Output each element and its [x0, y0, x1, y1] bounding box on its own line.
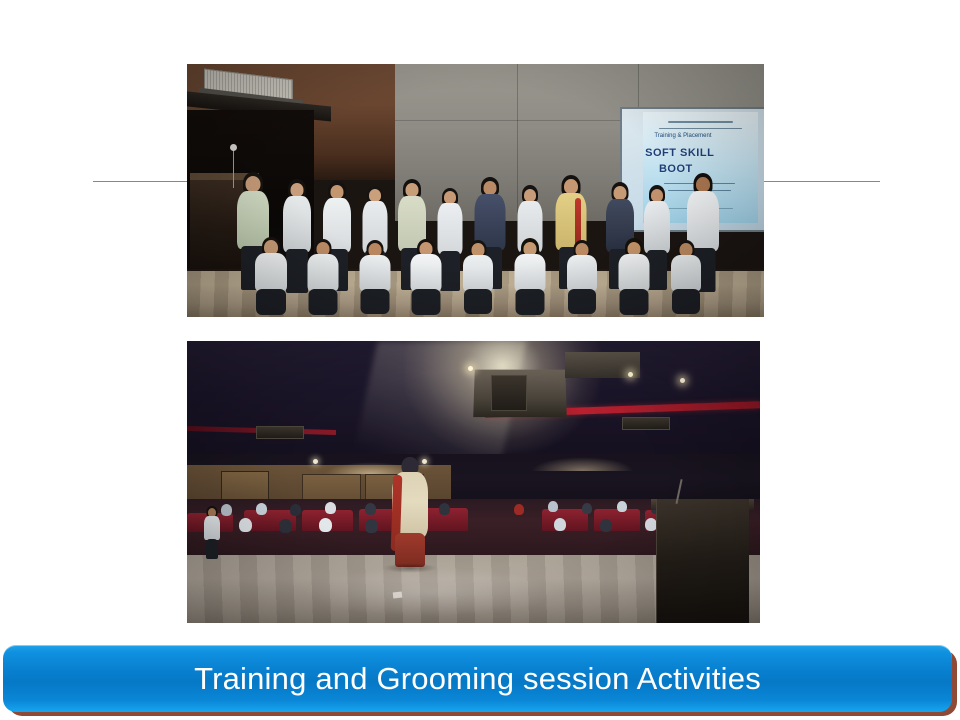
wall-speaker-left [256, 426, 304, 439]
audience-member [319, 518, 332, 532]
person [245, 237, 297, 289]
audience-member [365, 519, 378, 533]
ceiling-light [680, 378, 685, 383]
person [504, 238, 556, 289]
wall-speaker-right [622, 417, 670, 430]
caption-text: Training and Grooming session Activities [194, 661, 761, 697]
audience-member [439, 503, 450, 515]
poster-rule-2 [659, 128, 742, 129]
paper-on-floor [393, 591, 403, 598]
audience-member [617, 501, 627, 512]
poster-rule-1 [668, 121, 733, 123]
audience-member [239, 518, 252, 532]
group-photo[interactable]: Training & Placement SOFT SKILL BOOT [187, 64, 764, 317]
person [660, 239, 712, 290]
poster-subtitle: Training & Placement [654, 133, 711, 139]
slide-canvas: Training & Placement SOFT SKILL BOOT [0, 0, 960, 720]
standing-attendee [204, 506, 220, 558]
person [608, 238, 660, 289]
audience-member [582, 503, 592, 514]
auditorium-photo[interactable] [187, 341, 760, 623]
person [349, 239, 401, 290]
audience-member [600, 519, 612, 532]
audience-member [279, 519, 292, 533]
speaker-shadow [383, 563, 437, 573]
audience-member [548, 501, 558, 512]
audience-member [514, 504, 524, 515]
podium [656, 499, 749, 623]
audience-member [365, 503, 376, 515]
ceiling-speaker-box [491, 375, 527, 411]
speaker-trousers [395, 533, 425, 567]
caption-banner[interactable]: Training and Grooming session Activities [3, 645, 952, 712]
person [400, 238, 452, 289]
person [297, 238, 349, 289]
audience-member [256, 503, 267, 515]
auditorium-photo-scene [187, 341, 760, 623]
audience-member [325, 502, 336, 514]
audience-member [554, 518, 566, 531]
front-row-group [187, 196, 764, 290]
person [452, 239, 504, 290]
speaker-figure [388, 457, 432, 577]
group-photo-scene: Training & Placement SOFT SKILL BOOT [187, 64, 764, 317]
audience-member [290, 504, 301, 516]
wall-light-glow [531, 457, 634, 471]
person [556, 239, 608, 290]
